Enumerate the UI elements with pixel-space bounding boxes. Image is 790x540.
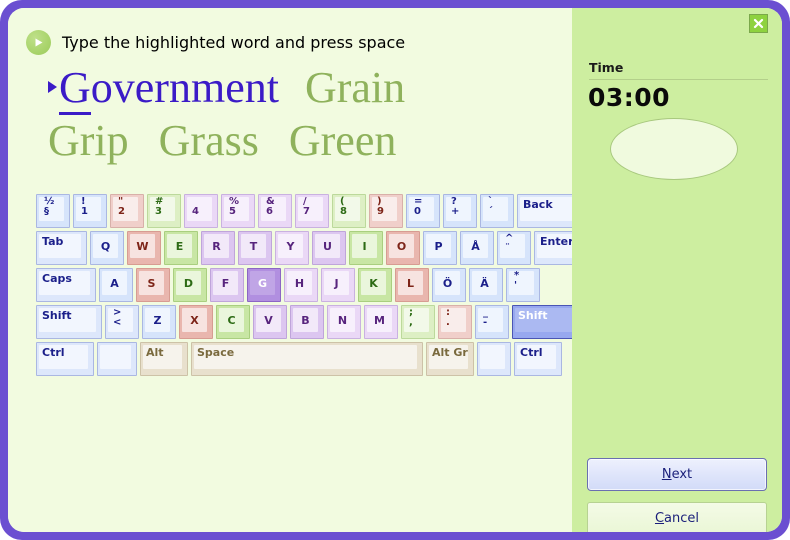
virtual-keyboard[interactable]: ½§!1"2#3 4%5&6/7(8)9=0?+`´BackTabQWERTYU… — [36, 194, 554, 379]
word-row: Government Grain — [48, 66, 568, 119]
key-7[interactable]: /7 — [295, 194, 329, 228]
word-item: Grain — [305, 66, 405, 110]
key-i[interactable]: I — [349, 231, 383, 265]
key-t-label: T — [250, 240, 258, 253]
key-h-label: H — [295, 277, 304, 290]
word-row: Grip Grass Green — [48, 119, 568, 172]
key-minus-lower: - — [483, 318, 487, 328]
key-4-lower: 4 — [192, 207, 199, 217]
key-r[interactable]: R — [201, 231, 235, 265]
key-super-left[interactable] — [97, 342, 137, 376]
word-list: Government Grain Grip Grass Green — [48, 66, 568, 172]
key-space-label: Space — [197, 346, 234, 359]
key-minus[interactable]: _- — [475, 305, 509, 339]
cancel-button-label: ancel — [664, 511, 699, 526]
key-1-lower: 1 — [81, 207, 88, 217]
main-pane: Type the highlighted word and press spac… — [8, 8, 572, 532]
key-super-right[interactable] — [477, 342, 511, 376]
key-5[interactable]: %5 — [221, 194, 255, 228]
key-m[interactable]: M — [364, 305, 398, 339]
cancel-button[interactable]: Cancel — [587, 502, 767, 532]
key-j[interactable]: J — [321, 268, 355, 302]
instruction-text: Type the highlighted word and press spac… — [62, 33, 405, 52]
key-plus-lower: + — [451, 207, 459, 217]
word-item: Green — [289, 119, 397, 163]
key-d[interactable]: D — [173, 268, 207, 302]
key-adiaeresis[interactable]: Ä — [469, 268, 503, 302]
next-button[interactable]: Next — [587, 458, 767, 491]
key-3[interactable]: #3 — [147, 194, 181, 228]
key-q-label: Q — [101, 240, 110, 253]
key-o-label: O — [397, 240, 406, 253]
key-p[interactable]: P — [423, 231, 457, 265]
key-z[interactable]: Z — [142, 305, 176, 339]
key-v-label: V — [264, 314, 273, 327]
key-m-label: M — [374, 314, 385, 327]
key-j-label: J — [334, 277, 338, 290]
active-word: Government — [59, 66, 279, 110]
play-icon — [26, 30, 51, 55]
active-word-rest: overnment — [91, 63, 279, 112]
key-4[interactable]: 4 — [184, 194, 218, 228]
key-6[interactable]: &6 — [258, 194, 292, 228]
close-button[interactable] — [749, 14, 768, 33]
key-6-lower: 6 — [266, 207, 273, 217]
key-ctrl-right[interactable]: Ctrl — [514, 342, 562, 376]
key-n[interactable]: N — [327, 305, 361, 339]
key-v[interactable]: V — [253, 305, 287, 339]
key-enter[interactable]: Enter — [534, 231, 572, 265]
key-7-lower: 7 — [303, 207, 310, 217]
key-i-label: I — [362, 240, 366, 253]
key-0[interactable]: =0 — [406, 194, 440, 228]
key-alt-left[interactable]: Alt — [140, 342, 188, 376]
key-altgr[interactable]: Alt Gr — [426, 342, 474, 376]
next-button-accel: N — [662, 467, 672, 482]
key-a-label: A — [110, 277, 119, 290]
key-tab-label: Tab — [42, 235, 63, 248]
time-label: Time — [589, 60, 623, 75]
key-h[interactable]: H — [284, 268, 318, 302]
window-content: Type the highlighted word and press spac… — [8, 8, 782, 532]
key-acute-lower: ´ — [488, 207, 493, 217]
key-c-label: C — [227, 314, 235, 327]
key-tab[interactable]: Tab — [36, 231, 87, 265]
key-u-label: U — [323, 240, 332, 253]
key-altgr-label: Alt Gr — [432, 346, 468, 359]
home-row: CapsASDFGHJKLÖÄ*' — [36, 268, 554, 302]
key-3-lower: 3 — [155, 207, 162, 217]
key-2[interactable]: "2 — [110, 194, 144, 228]
key-odiaeresis-label: Ö — [443, 277, 452, 290]
key-n-label: N — [338, 314, 347, 327]
key-shift-left[interactable]: Shift — [36, 305, 102, 339]
key-s-label: S — [148, 277, 156, 290]
key-o[interactable]: O — [386, 231, 420, 265]
key-aring[interactable]: Å — [460, 231, 494, 265]
key-ctrl-left[interactable]: Ctrl — [36, 342, 94, 376]
key-semicolon-lower: ' — [514, 281, 517, 291]
key-2-lower: 2 — [118, 207, 125, 217]
key-s[interactable]: S — [136, 268, 170, 302]
bottom-letter-row: Shift><ZXCVBNM;,:._-Shift — [36, 305, 554, 339]
key-x-label: X — [190, 314, 198, 327]
key-k-label: K — [369, 277, 378, 290]
key-less-greater-lower: < — [113, 318, 121, 328]
word-item: Grip — [48, 119, 129, 163]
key-9[interactable]: )9 — [369, 194, 403, 228]
key-x[interactable]: X — [179, 305, 213, 339]
modifier-row: CtrlAltSpaceAlt GrCtrl — [36, 342, 554, 376]
time-divider — [589, 79, 768, 80]
key-diaeresis-lower: ¨ — [505, 244, 510, 254]
number-row: ½§!1"2#3 4%5&6/7(8)9=0?+`´Back — [36, 194, 554, 228]
key-w-label: W — [136, 240, 148, 253]
key-backspace-label: Back — [523, 198, 553, 211]
key-comma[interactable]: ;, — [401, 305, 435, 339]
key-f[interactable]: F — [210, 268, 244, 302]
key-l-label: L — [407, 277, 414, 290]
key-q[interactable]: Q — [90, 231, 124, 265]
progress-ellipse — [610, 118, 738, 180]
key-backspace[interactable]: Back — [517, 194, 572, 228]
key-e[interactable]: E — [164, 231, 198, 265]
word-item: Grass — [159, 119, 259, 163]
key-f-label: F — [222, 277, 230, 290]
key-shift-right-label: Shift — [518, 309, 548, 322]
key-less-greater[interactable]: >< — [105, 305, 139, 339]
key-y-label: Y — [287, 240, 295, 253]
key-p-label: P — [434, 240, 442, 253]
key-caps[interactable]: Caps — [36, 268, 96, 302]
key-u[interactable]: U — [312, 231, 346, 265]
key-8[interactable]: (8 — [332, 194, 366, 228]
key-diaeresis[interactable]: ^¨ — [497, 231, 531, 265]
key-g-label: G — [258, 277, 267, 290]
key-a[interactable]: A — [99, 268, 133, 302]
time-value: 03:00 — [588, 83, 670, 112]
key-w[interactable]: W — [127, 231, 161, 265]
cancel-button-accel: C — [655, 511, 664, 526]
key-aring-label: Å — [471, 240, 480, 253]
key-c[interactable]: C — [216, 305, 250, 339]
instruction-bar: Type the highlighted word and press spac… — [26, 30, 405, 55]
hands-illustration — [8, 367, 572, 532]
key-9-lower: 9 — [377, 207, 384, 217]
top-letter-row: TabQWERTYUIOPÅ^¨Enter — [36, 231, 554, 265]
key-period-lower: . — [446, 318, 450, 328]
triangle-cursor-icon — [48, 81, 57, 93]
key-plus[interactable]: ?+ — [443, 194, 477, 228]
key-odiaeresis[interactable]: Ö — [432, 268, 466, 302]
key-t[interactable]: T — [238, 231, 272, 265]
key-enter-label: Enter — [540, 235, 572, 248]
key-r-label: R — [212, 240, 220, 253]
next-button-label: ext — [672, 467, 693, 482]
key-paragraph-lower: § — [44, 207, 49, 217]
key-8-lower: 8 — [340, 207, 347, 217]
key-caps-label: Caps — [42, 272, 72, 285]
key-period[interactable]: :. — [438, 305, 472, 339]
key-space[interactable]: Space — [191, 342, 423, 376]
key-z-label: Z — [154, 314, 162, 327]
application-window: Type the highlighted word and press spac… — [0, 0, 790, 540]
key-e-label: E — [176, 240, 184, 253]
key-shift-left-label: Shift — [42, 309, 72, 322]
key-semicolon[interactable]: *' — [506, 268, 540, 302]
key-1[interactable]: !1 — [73, 194, 107, 228]
key-alt-left-label: Alt — [146, 346, 164, 359]
active-word-prefix: G — [59, 63, 91, 115]
key-y[interactable]: Y — [275, 231, 309, 265]
key-paragraph[interactable]: ½§ — [36, 194, 70, 228]
sidebar: Time 03:00 Next Cancel — [572, 8, 782, 532]
key-comma-lower: , — [409, 318, 413, 328]
key-adiaeresis-label: Ä — [480, 277, 489, 290]
key-d-label: D — [184, 277, 193, 290]
key-l[interactable]: L — [395, 268, 429, 302]
key-5-lower: 5 — [229, 207, 236, 217]
key-ctrl-left-label: Ctrl — [42, 346, 65, 359]
key-k[interactable]: K — [358, 268, 392, 302]
key-acute[interactable]: `´ — [480, 194, 514, 228]
key-shift-right[interactable]: Shift — [512, 305, 572, 339]
key-ctrl-right-label: Ctrl — [520, 346, 543, 359]
key-b-label: B — [301, 314, 309, 327]
key-g[interactable]: G — [247, 268, 281, 302]
key-b[interactable]: B — [290, 305, 324, 339]
key-0-lower: 0 — [414, 207, 421, 217]
